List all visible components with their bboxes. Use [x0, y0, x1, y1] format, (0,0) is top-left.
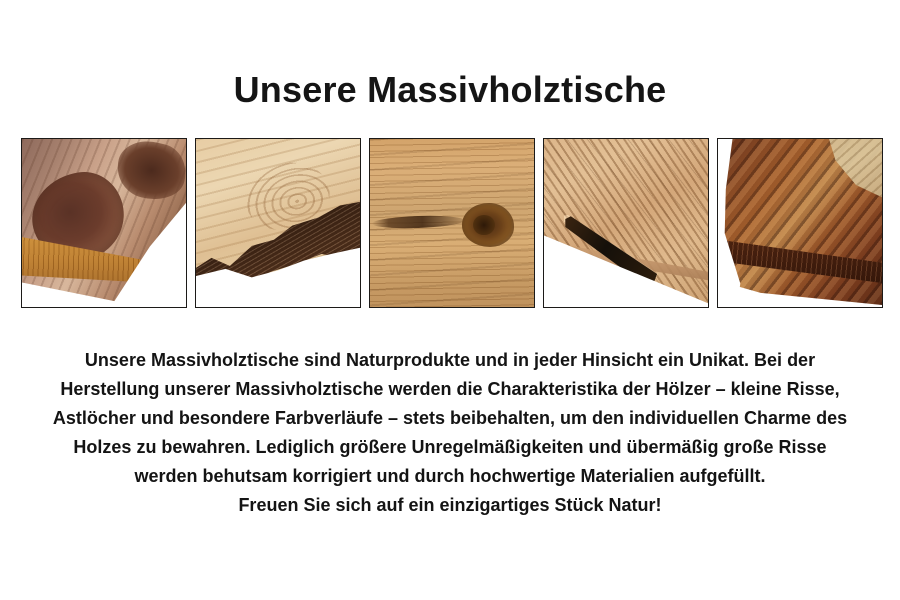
- body-line: Unsere Massivholztische sind Naturproduk…: [30, 346, 870, 375]
- wood-grain-closeup-image: [370, 139, 534, 307]
- rough-sawn-board-image: [544, 139, 708, 307]
- gallery-photo-3: [369, 138, 535, 308]
- infographic-page: Unsere Massivholztische: [0, 0, 900, 600]
- page-title: Unsere Massivholztische: [0, 68, 900, 112]
- body-copy: Unsere Massivholztische sind Naturproduk…: [30, 346, 870, 520]
- photo-gallery: [21, 138, 887, 308]
- gallery-photo-2: [195, 138, 361, 308]
- rosewood-slab-corner-image: [718, 139, 882, 307]
- body-line: Holzes zu bewahren. Lediglich größere Un…: [30, 433, 870, 462]
- body-line: Astlöcher und besondere Farbverläufe – s…: [30, 404, 870, 433]
- gallery-photo-4: [543, 138, 709, 308]
- wood-slab-corner-image: [22, 139, 186, 307]
- gallery-photo-5: [717, 138, 883, 308]
- gallery-photo-1: [21, 138, 187, 308]
- body-line: Herstellung unserer Massivholztische wer…: [30, 375, 870, 404]
- knot-core: [473, 215, 494, 235]
- body-line: werden behutsam korrigiert und durch hoc…: [30, 462, 870, 491]
- live-edge-slab-image: [196, 139, 360, 307]
- body-line: Freuen Sie sich auf ein einzigartiges St…: [30, 491, 870, 520]
